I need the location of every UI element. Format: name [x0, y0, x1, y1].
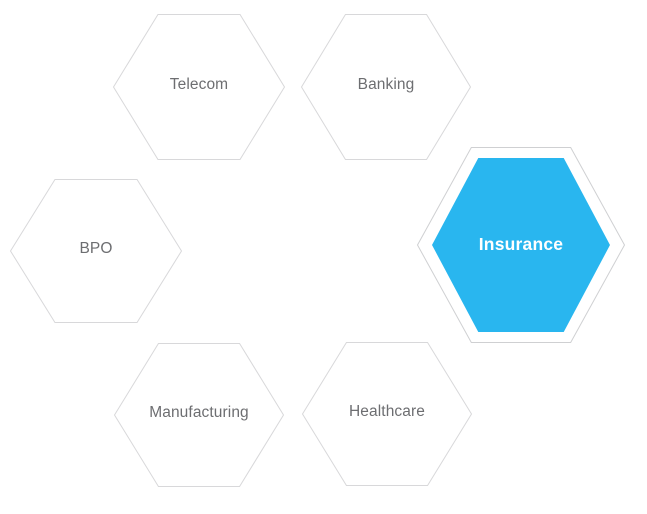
hex-cell-insurance-shape: [417, 147, 625, 343]
hex-cell-manufacturing[interactable]: Manufacturing: [114, 343, 284, 487]
hex-cell-healthcare-shape: [302, 342, 472, 486]
hex-cell-banking[interactable]: Banking: [301, 14, 471, 160]
hex-cell-banking-shape: [301, 14, 471, 160]
hex-outline: [115, 344, 284, 487]
hex-cell-insurance[interactable]: Insurance: [417, 147, 625, 343]
hex-outline: [303, 343, 472, 486]
hex-outline: [114, 15, 285, 160]
hex-cell-telecom-shape: [113, 14, 285, 160]
hex-cell-healthcare[interactable]: Healthcare: [302, 342, 472, 486]
hex-cell-bpo[interactable]: BPO: [10, 179, 182, 323]
hex-diagram-canvas: TelecomBankingBPOInsuranceManufacturingH…: [0, 0, 647, 514]
hex-cell-manufacturing-shape: [114, 343, 284, 487]
hex-outline: [302, 15, 471, 160]
hex-cell-telecom[interactable]: Telecom: [113, 14, 285, 160]
hex-cell-bpo-shape: [10, 179, 182, 323]
hex-outline: [11, 180, 182, 323]
